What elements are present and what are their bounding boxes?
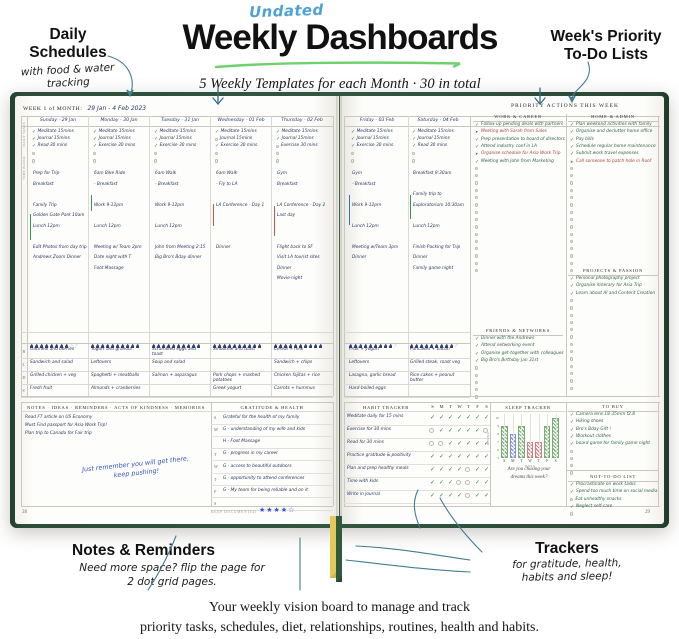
check-icon: ✓ bbox=[475, 138, 479, 143]
day-event[interactable]: Breakfast bbox=[33, 183, 54, 188]
day-habit-row[interactable]: Journal 15mins bbox=[215, 136, 269, 142]
meal-cell[interactable]: Chicken fajitas + rice bbox=[274, 373, 330, 378]
habit-empty-icon[interactable] bbox=[465, 480, 470, 485]
day-habit-row[interactable]: ✓Meditate 15mins bbox=[351, 129, 406, 135]
day-event[interactable]: Exploratorium 10:30am bbox=[413, 204, 464, 209]
day-habit-row[interactable]: ✓Meditate 15mins bbox=[32, 129, 86, 135]
day-event[interactable]: - Breakfast bbox=[94, 183, 117, 188]
task-row[interactable] bbox=[570, 233, 656, 240]
day-habit-row[interactable]: ✓Journal 15mins bbox=[276, 136, 330, 142]
habit-check-icon[interactable]: ✓ bbox=[447, 493, 454, 500]
day-event[interactable]: Andrews Zoom Dinner bbox=[33, 256, 81, 261]
day-event[interactable]: Gym bbox=[277, 172, 287, 177]
day-event[interactable]: 6am Walk bbox=[155, 172, 176, 177]
gratitude-entry[interactable]: G - access to beautiful outdoors bbox=[223, 465, 292, 470]
meal-cell[interactable]: Pancakes + bacon bbox=[410, 347, 468, 352]
habit-empty-icon[interactable] bbox=[438, 441, 443, 446]
day-event[interactable]: Lunch 12pm bbox=[155, 225, 182, 230]
day-habit-row[interactable]: ✓Exercise 30 mins bbox=[93, 143, 147, 149]
day-habit-row[interactable] bbox=[276, 158, 330, 164]
day-event[interactable]: Lunch 12pm bbox=[94, 225, 121, 230]
habit-check-icon[interactable]: ✓ bbox=[429, 454, 436, 461]
habit-check-icon[interactable]: ✓ bbox=[456, 467, 463, 474]
habit-check-icon[interactable]: ✓ bbox=[456, 454, 463, 461]
task-row[interactable] bbox=[475, 366, 561, 373]
check-icon: ✓ bbox=[570, 505, 574, 510]
day-event[interactable]: LA Conference - Day 1 bbox=[216, 204, 264, 209]
meal-cell[interactable]: Cereal + milk bbox=[274, 347, 330, 352]
task-row[interactable] bbox=[570, 387, 656, 394]
task-row[interactable] bbox=[570, 350, 656, 357]
meal-cell[interactable]: Leftovers bbox=[91, 360, 147, 365]
task-row[interactable] bbox=[475, 218, 561, 225]
task-label: Organise schedule for Asia Work Trip bbox=[481, 152, 560, 157]
habit-check-icon[interactable]: ✓ bbox=[483, 415, 490, 422]
rule-line bbox=[211, 485, 333, 486]
day-name-3[interactable]: Wednesday - 01 Feb bbox=[211, 118, 271, 123]
day-event[interactable]: Finish Packing for Trip bbox=[413, 246, 460, 251]
task-row[interactable]: ✓Spend too much time on social media bbox=[570, 490, 656, 497]
habit-check-icon[interactable]: ✓ bbox=[447, 428, 454, 435]
task-row[interactable] bbox=[475, 189, 561, 196]
day-event[interactable]: Edit Photos from day trip bbox=[33, 246, 86, 251]
check-icon: ✓ bbox=[475, 145, 479, 150]
task-row[interactable]: ✓Learn about AI and Content Creation bbox=[570, 292, 656, 299]
day-habit-label: Exercise 30 mins bbox=[160, 144, 197, 149]
rule-line bbox=[333, 116, 334, 396]
habit-empty-icon[interactable] bbox=[465, 467, 470, 472]
day-event[interactable]: - Fly to LA bbox=[216, 183, 238, 188]
day-habit-label: Meditate 15mins bbox=[282, 130, 318, 135]
habit-check-icon[interactable]: ✓ bbox=[474, 480, 481, 487]
empty-checkbox-icon bbox=[475, 233, 478, 236]
day-habit-row[interactable] bbox=[93, 151, 147, 157]
day-event[interactable]: Meeting w/Team 3pm bbox=[352, 246, 398, 251]
day-habit-label: Journal 15mins bbox=[220, 137, 252, 142]
day-event[interactable]: Lunch 12pm bbox=[33, 225, 60, 230]
task-row[interactable] bbox=[570, 247, 656, 254]
day-habit-row[interactable]: ✓Meditate 15mins bbox=[93, 129, 147, 135]
x-tick-label: S bbox=[551, 459, 560, 463]
week-label: WEEK 1 of MONTH: bbox=[23, 106, 82, 112]
empty-checkbox-icon bbox=[570, 240, 573, 243]
habit-row-label[interactable]: Practice gratitude & positivity bbox=[347, 453, 425, 458]
rule-line bbox=[344, 464, 490, 465]
meal-cell[interactable]: Soup and salad bbox=[152, 360, 208, 365]
task-row[interactable]: ✓Organise itinerary for Asia Trip bbox=[570, 284, 656, 291]
x-tick-label: T bbox=[517, 459, 526, 463]
day-event[interactable]: Foot Massage bbox=[94, 267, 124, 272]
task-row[interactable] bbox=[570, 372, 656, 379]
habit-check-icon[interactable]: ✓ bbox=[474, 415, 481, 422]
day-event[interactable]: Family Trip bbox=[33, 204, 57, 209]
task-row[interactable] bbox=[475, 225, 561, 232]
day-habit-row[interactable]: ✓Exercise 30 mins bbox=[351, 143, 406, 149]
callout-notes-title: Notes & Reminders bbox=[72, 542, 272, 560]
habit-check-icon[interactable]: ✓ bbox=[429, 493, 436, 500]
empty-checkbox-icon bbox=[570, 254, 573, 257]
empty-checkbox-icon bbox=[570, 211, 573, 214]
task-row[interactable]: ✓Big Bro's Birthday Jan 31st bbox=[475, 359, 561, 366]
rule-line bbox=[333, 402, 334, 506]
empty-checkbox-icon bbox=[475, 240, 478, 243]
habit-check-icon[interactable]: ✓ bbox=[429, 467, 436, 474]
meal-cell[interactable]: Fruit + yogurt bbox=[349, 347, 407, 352]
day-habit-row[interactable] bbox=[412, 151, 467, 157]
habit-check-icon[interactable]: ✓ bbox=[456, 428, 463, 435]
task-row[interactable] bbox=[570, 357, 656, 364]
task-row[interactable] bbox=[570, 306, 656, 313]
meal-cell[interactable]: Carrots + hummus bbox=[274, 386, 330, 391]
habit-check-icon[interactable]: ✓ bbox=[483, 493, 490, 500]
meal-cell[interactable]: Pork chops + mashed potatoes bbox=[213, 373, 269, 384]
check-icon: ✓ bbox=[32, 130, 36, 135]
rule-line bbox=[211, 402, 212, 506]
task-row[interactable] bbox=[475, 211, 561, 218]
gratitude-entry[interactable]: H - Foot Massage bbox=[223, 440, 260, 445]
day-habit-row[interactable] bbox=[154, 158, 208, 164]
habit-empty-icon[interactable] bbox=[429, 428, 434, 433]
task-row[interactable] bbox=[475, 196, 561, 203]
footer-tagline: Your weekly vision board to manage and t… bbox=[0, 598, 679, 639]
day-habit-row[interactable] bbox=[93, 158, 147, 164]
day-habit-row[interactable] bbox=[154, 151, 208, 157]
day-habit-row[interactable]: ✓Journal 15mins bbox=[154, 136, 208, 142]
day-event[interactable]: Visit LA tourist sites bbox=[277, 256, 320, 261]
day-event[interactable]: - Breakfast bbox=[155, 183, 178, 188]
task-row[interactable] bbox=[475, 181, 561, 188]
day-name-1[interactable]: Monday - 30 Jan bbox=[89, 118, 149, 123]
day-habit-row[interactable] bbox=[215, 151, 269, 157]
habit-check-icon[interactable]: ✓ bbox=[429, 480, 436, 487]
task-row[interactable] bbox=[570, 328, 656, 335]
day-name-4[interactable]: Thursday - 02 Feb bbox=[272, 118, 332, 123]
day-event[interactable]: Breakfast 9:30am bbox=[413, 172, 451, 177]
empty-checkbox-icon bbox=[570, 233, 573, 236]
habit-check-icon[interactable]: ✓ bbox=[465, 415, 472, 422]
y-tick-label: 7 bbox=[491, 440, 499, 444]
habit-check-icon[interactable]: ✓ bbox=[483, 480, 490, 487]
task-row[interactable] bbox=[570, 167, 656, 174]
meal-cell[interactable]: Spaghetti + meatballs bbox=[91, 373, 147, 378]
habit-check-icon[interactable]: ✓ bbox=[474, 493, 481, 500]
habit-check-icon[interactable]: ✓ bbox=[447, 415, 454, 422]
day-habit-row[interactable] bbox=[215, 158, 269, 164]
habit-check-icon[interactable]: ✓ bbox=[438, 428, 445, 435]
task-row[interactable] bbox=[475, 262, 561, 269]
day-habit-row[interactable] bbox=[32, 151, 86, 157]
task-row[interactable] bbox=[570, 457, 656, 464]
habit-check-icon[interactable]: ✓ bbox=[438, 493, 445, 500]
habit-empty-icon[interactable] bbox=[456, 480, 461, 485]
day-name-0[interactable]: Sunday - 29 Jan bbox=[28, 118, 88, 123]
habit-check-icon[interactable]: ✓ bbox=[438, 467, 445, 474]
task-label: Workout clothes bbox=[576, 435, 611, 440]
habit-check-icon[interactable]: ✓ bbox=[474, 441, 481, 448]
day-event[interactable]: Date night with T bbox=[94, 256, 131, 261]
day-habit-row[interactable]: ✓Journal 15mins bbox=[412, 136, 467, 142]
task-label: Dinner with the Andrews bbox=[481, 337, 534, 342]
empty-checkbox-icon bbox=[570, 218, 573, 221]
sleep-tracker-chart bbox=[500, 414, 560, 458]
rule-line bbox=[21, 358, 333, 359]
day-name-6[interactable]: Saturday - 04 Feb bbox=[409, 118, 467, 123]
habit-check-icon[interactable]: ✓ bbox=[456, 415, 463, 422]
task-row[interactable] bbox=[570, 211, 656, 218]
day-event[interactable]: Work 9-12pm bbox=[155, 204, 184, 209]
notes-line[interactable]: Must Find passport for Asia Work Trip! bbox=[25, 424, 107, 429]
empty-checkbox-icon bbox=[570, 457, 573, 460]
day-event[interactable]: - Breakfast bbox=[352, 183, 375, 188]
rule-line bbox=[566, 114, 567, 396]
gratitude-entry[interactable]: G - progress in my career bbox=[223, 452, 278, 457]
meal-cell[interactable]: Leftovers bbox=[349, 360, 407, 365]
task-row[interactable] bbox=[570, 196, 656, 203]
task-row[interactable] bbox=[570, 450, 656, 457]
task-row[interactable] bbox=[570, 365, 656, 372]
day-event[interactable]: Work 9-12pm bbox=[94, 204, 123, 209]
habit-check-icon[interactable]: ✓ bbox=[447, 480, 454, 487]
habit-row-label[interactable]: Write in journal bbox=[347, 492, 425, 497]
task-row[interactable] bbox=[475, 374, 561, 381]
habit-check-icon[interactable]: ✓ bbox=[438, 415, 445, 422]
task-row[interactable] bbox=[570, 335, 656, 342]
x-tick-label: S bbox=[500, 459, 509, 463]
empty-checkbox-icon bbox=[570, 379, 573, 382]
day-event[interactable]: Work 9-12pm bbox=[352, 204, 381, 209]
day-habit-row[interactable]: ✓Meditate 15mins bbox=[412, 129, 467, 135]
task-row[interactable] bbox=[475, 233, 561, 240]
day-habit-row[interactable] bbox=[351, 158, 406, 164]
week-value[interactable]: 29 Jan - 4 Feb 2023 bbox=[87, 105, 146, 112]
task-row[interactable]: ✓Organise and declutter home office bbox=[570, 130, 656, 137]
empty-checkbox-icon bbox=[475, 218, 478, 221]
habit-row-label[interactable]: Read for 30 mins bbox=[347, 440, 425, 445]
task-row[interactable]: ➤Organise schedule for Asia Work Trip bbox=[475, 152, 561, 159]
task-row[interactable] bbox=[475, 167, 561, 174]
day-habit-row[interactable] bbox=[32, 158, 86, 164]
day-habit-row[interactable]: ✓Exercise 30 mins bbox=[215, 143, 269, 149]
task-row[interactable] bbox=[570, 512, 656, 519]
day-event[interactable]: Golden Gate Park 10am bbox=[33, 214, 84, 219]
habit-check-icon[interactable]: ✓ bbox=[447, 467, 454, 474]
day-habit-row[interactable]: Exercise 30 mins bbox=[276, 143, 330, 149]
empty-checkbox-icon bbox=[154, 159, 157, 162]
task-row[interactable] bbox=[475, 269, 561, 276]
meal-cell[interactable]: Greek yogurt bbox=[213, 386, 269, 391]
habit-check-icon[interactable]: ✓ bbox=[483, 454, 490, 461]
footer-line-2: priority tasks, schedules, diet, relatio… bbox=[0, 618, 679, 638]
habit-check-icon[interactable]: ✓ bbox=[447, 441, 454, 448]
day-habit-label: Journal 15mins bbox=[282, 137, 314, 142]
habit-check-icon[interactable]: ✓ bbox=[465, 441, 472, 448]
habit-row-label[interactable]: Plan and prep healthy meals bbox=[347, 466, 425, 471]
day-name-2[interactable]: Tuesday - 31 Jan bbox=[150, 118, 210, 123]
notes-line[interactable]: Plan trip to Canada for Fair trip bbox=[25, 432, 92, 437]
day-event[interactable]: Family trip to bbox=[413, 193, 442, 198]
day-event[interactable]: Prep for Trip bbox=[33, 172, 59, 177]
day-event[interactable]: Dinner bbox=[413, 256, 427, 261]
task-row[interactable] bbox=[475, 203, 561, 210]
empty-checkbox-icon bbox=[215, 159, 218, 162]
meal-cell[interactable]: Fresh fruit bbox=[30, 386, 86, 391]
habit-check-icon[interactable]: ✓ bbox=[474, 428, 481, 435]
day-habit-row[interactable]: ✓Journal 15mins bbox=[93, 136, 147, 142]
day-event[interactable]: Last day bbox=[277, 214, 295, 219]
task-row[interactable] bbox=[570, 240, 656, 247]
habit-check-icon[interactable]: ✓ bbox=[438, 480, 445, 487]
task-row[interactable] bbox=[570, 379, 656, 386]
list-title-nottodo: NOT-TO-DO LIST bbox=[568, 474, 658, 479]
day-habit-row[interactable]: ✓Read 30 mins bbox=[412, 143, 467, 149]
task-row[interactable] bbox=[570, 343, 656, 350]
task-label: Organise and declutter home office bbox=[576, 130, 652, 135]
habit-check-icon[interactable]: ✓ bbox=[438, 454, 445, 461]
task-row[interactable]: ✓Attend networking event bbox=[475, 344, 561, 351]
day-habit-row[interactable] bbox=[276, 151, 330, 157]
habit-check-icon[interactable]: ✓ bbox=[465, 428, 472, 435]
check-icon: ✓ bbox=[570, 442, 574, 447]
meal-cell[interactable]: Yogurt and granola bbox=[91, 347, 147, 352]
meal-cell[interactable]: Oatmeal and berries bbox=[30, 347, 86, 352]
notes-line[interactable]: Read FT article on US Economy bbox=[25, 416, 92, 421]
habit-row-label[interactable]: Time with kids bbox=[347, 479, 425, 484]
task-row[interactable]: ➤Call someone to patch hole in Roof bbox=[570, 160, 656, 167]
habit-check-icon[interactable]: ✓ bbox=[447, 454, 454, 461]
task-row[interactable] bbox=[570, 299, 656, 306]
empty-checkbox-icon bbox=[570, 357, 573, 360]
star-rating[interactable]: ★★★★☆ bbox=[259, 506, 295, 514]
day-habit-row[interactable]: ✓Read 30 mins bbox=[32, 143, 86, 149]
day-event[interactable]: 6am Bike Ride bbox=[94, 172, 125, 177]
day-event[interactable]: Family game night bbox=[413, 267, 453, 272]
task-row[interactable]: ✓board game for family game night bbox=[570, 442, 656, 449]
gratitude-entry[interactable]: G - My team for being reliable and on it bbox=[223, 489, 308, 494]
check-icon: ✓ bbox=[570, 413, 574, 418]
task-row[interactable] bbox=[475, 395, 561, 402]
day-habit-row[interactable]: ✓Meditate 15mins bbox=[154, 129, 208, 135]
habit-check-icon[interactable]: ✓ bbox=[474, 454, 481, 461]
task-row[interactable] bbox=[475, 240, 561, 247]
habit-row-label[interactable]: Exercise for 30 mins bbox=[347, 427, 425, 432]
task-row[interactable] bbox=[570, 321, 656, 328]
habit-empty-icon[interactable] bbox=[465, 493, 470, 498]
check-icon: ✓ bbox=[570, 292, 574, 297]
moved-arrow-icon: ➤ bbox=[475, 152, 479, 156]
day-habit-row[interactable]: ✓Journal 15mins bbox=[351, 136, 406, 142]
day-event[interactable]: LA Conference - Day 2 bbox=[277, 204, 325, 209]
meal-row-label: L bbox=[23, 362, 25, 367]
task-row[interactable] bbox=[570, 218, 656, 225]
day-event[interactable]: Gym bbox=[352, 172, 362, 177]
task-row[interactable] bbox=[475, 388, 561, 395]
meal-cell[interactable]: Almonds + cranberries bbox=[91, 386, 147, 391]
day-habit-row[interactable]: ✓Meditate 15mins bbox=[276, 129, 330, 135]
task-row[interactable] bbox=[475, 254, 561, 261]
task-row[interactable] bbox=[570, 181, 656, 188]
task-row[interactable]: ✓Submit work travel expenses bbox=[570, 152, 656, 159]
day-habit-row[interactable]: ✓Exercise 30 mins bbox=[154, 143, 208, 149]
task-row[interactable] bbox=[570, 203, 656, 210]
dreams-note: Are you chasing yourdreams this week? bbox=[490, 466, 568, 481]
meal-cell[interactable]: Lasagna, garlic bread bbox=[349, 373, 407, 378]
meal-cell[interactable]: Smoothie and toast bbox=[213, 347, 269, 352]
task-row[interactable] bbox=[570, 225, 656, 232]
rule-line bbox=[344, 451, 490, 452]
day-habit-row[interactable]: ✓Journal 15mins bbox=[32, 136, 86, 142]
habit-check-icon[interactable]: ✓ bbox=[465, 454, 472, 461]
day-habit-row[interactable]: ✓Meditate 15mins bbox=[215, 129, 269, 135]
task-row[interactable] bbox=[475, 381, 561, 388]
day-event[interactable]: Dinner bbox=[352, 256, 366, 261]
day-event[interactable]: Breakfast bbox=[277, 183, 298, 188]
gratitude-entry[interactable]: G - opportunity to attend conferences bbox=[223, 477, 304, 482]
callout-daily-schedules: DailySchedules with food & water trackin… bbox=[6, 26, 130, 90]
task-row[interactable]: ➤Meeting with Sarah from Sales bbox=[475, 130, 561, 137]
task-label: Hiking shoes bbox=[576, 420, 603, 425]
meal-cell[interactable]: Salmon + asparagus bbox=[152, 373, 208, 378]
list-title-work: WORK & CAREER bbox=[473, 114, 563, 119]
day-event[interactable]: Dinner bbox=[216, 246, 230, 251]
gratitude-entry[interactable]: G - understanding of my wife and kids bbox=[223, 428, 305, 433]
meal-cell[interactable]: Grilled steak, roast veg bbox=[410, 360, 468, 365]
task-row[interactable]: ✓Meeting with John from Marketing bbox=[475, 160, 561, 167]
day-name-5[interactable]: Friday - 03 Feb bbox=[348, 118, 406, 123]
habit-check-icon[interactable]: ✓ bbox=[429, 415, 436, 422]
task-row[interactable]: ✓Hiking shoes bbox=[570, 420, 656, 427]
day-event[interactable]: Movie night bbox=[277, 277, 302, 282]
gratitude-entry[interactable]: Grateful for the health of my family bbox=[223, 416, 299, 421]
task-row[interactable] bbox=[570, 314, 656, 321]
day-event[interactable]: Lunch 12pm bbox=[413, 225, 440, 230]
day-event[interactable]: Meeting w/ Team 2pm bbox=[94, 246, 142, 251]
day-event[interactable]: Lunch 12pm bbox=[352, 225, 379, 230]
empty-checkbox-icon bbox=[475, 247, 478, 250]
habit-check-icon[interactable]: ✓ bbox=[456, 493, 463, 500]
task-row[interactable] bbox=[570, 189, 656, 196]
day-habit-row[interactable] bbox=[412, 158, 467, 164]
task-row[interactable] bbox=[475, 247, 561, 254]
task-label: Prep presentation to board of directors bbox=[481, 138, 565, 143]
day-habit-row[interactable] bbox=[351, 151, 406, 157]
empty-checkbox-icon bbox=[475, 366, 478, 369]
habit-row-label[interactable]: Meditate daily for 15 mins bbox=[347, 414, 425, 419]
meal-cell[interactable]: Scrambled eggs and toast bbox=[152, 347, 208, 358]
left-page: WEEK 1 of MONTH: 29 Jan - 4 Feb 2023 DAI… bbox=[15, 96, 339, 524]
meal-cell[interactable]: Rice cakes + peanut butter bbox=[410, 373, 468, 384]
habit-check-icon[interactable]: ✓ bbox=[474, 467, 481, 474]
day-habit-label: Journal 15mins bbox=[38, 137, 70, 142]
day-event[interactable]: Big Bro's Bday dinner bbox=[155, 256, 201, 261]
meal-cell[interactable]: Sandwich and salad bbox=[30, 360, 86, 365]
task-row[interactable] bbox=[475, 174, 561, 181]
check-icon: ✓ bbox=[154, 130, 158, 135]
task-row[interactable] bbox=[570, 174, 656, 181]
meal-cell[interactable]: Hard-boiled eggs bbox=[349, 386, 407, 391]
habit-check-icon[interactable]: ✓ bbox=[483, 467, 490, 474]
day-event[interactable]: John from Meeting 2:15 bbox=[155, 246, 206, 251]
task-row[interactable] bbox=[570, 254, 656, 261]
habit-check-icon[interactable]: ✓ bbox=[456, 441, 463, 448]
day-event[interactable]: 6am Walk bbox=[216, 172, 237, 177]
task-row[interactable]: ✓Neglect self-care bbox=[570, 505, 656, 512]
habit-empty-icon[interactable] bbox=[429, 441, 434, 446]
day-event[interactable]: Dinner bbox=[277, 267, 291, 272]
meal-cell[interactable]: Grilled chicken + veg bbox=[30, 373, 86, 378]
meal-cell[interactable]: Sandwich + chips bbox=[274, 360, 330, 365]
day-habit-label: Meditate 15mins bbox=[160, 130, 196, 135]
day-event[interactable]: Flight back to SF bbox=[277, 246, 313, 251]
